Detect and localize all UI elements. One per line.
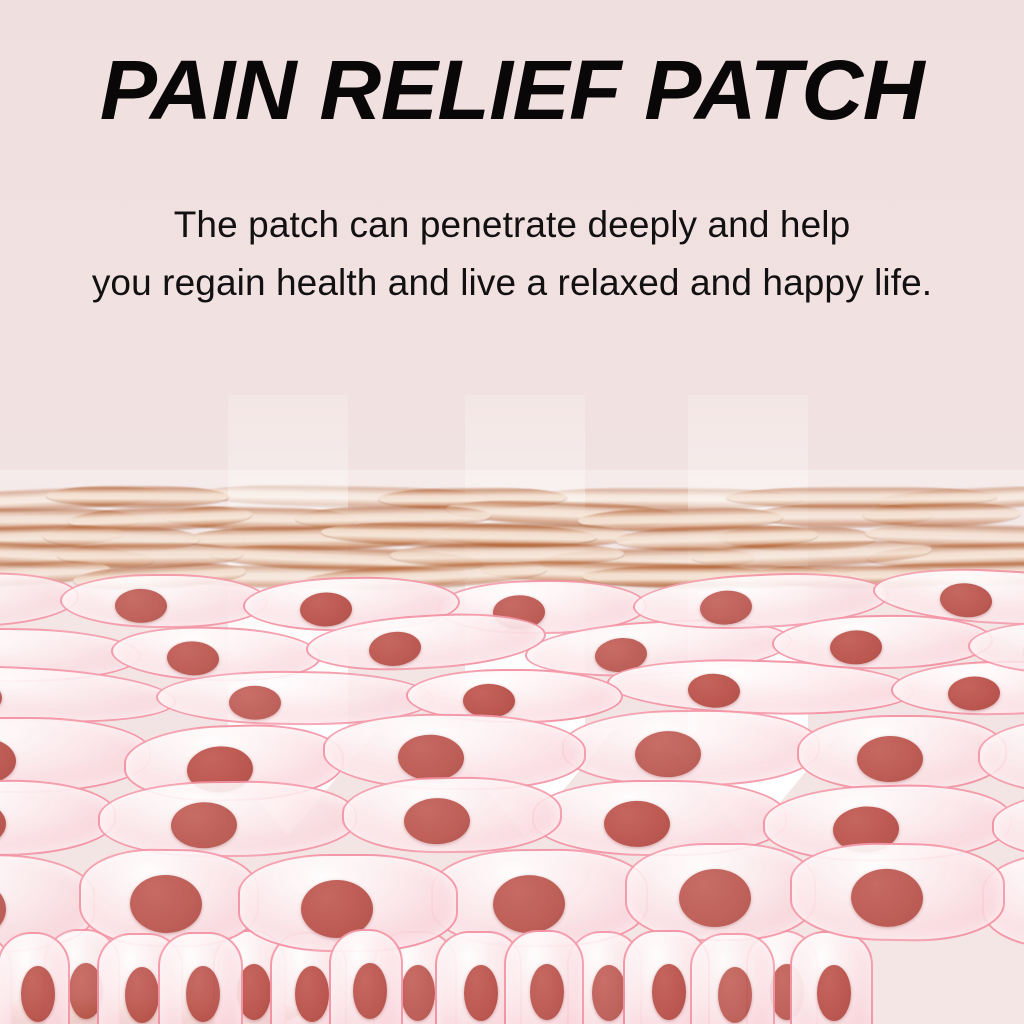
skin-cell [797,715,1007,792]
skin-cell [625,843,816,942]
skin-cell [329,929,403,1024]
skin-cell [158,931,243,1024]
skin-cell [98,780,357,859]
skin-cell [690,933,775,1024]
skin-cell [790,842,1005,943]
page-title: PAIN RELIEF PATCH [0,48,1024,134]
skin-cross-section-illustration [0,470,1024,1024]
subtitle-line-1: The patch can penetrate deeply and help [0,196,1024,254]
skin-cell [562,709,820,787]
skin-cell [0,932,70,1024]
skin-cell [342,776,562,854]
subtitle-line-2: you regain health and live a relaxed and… [0,254,1024,312]
skin-cell [790,930,873,1024]
skin-cell [60,573,268,628]
skin-cell [79,848,259,948]
stratum-basale-row [0,932,1024,1024]
skin-cell [504,930,584,1024]
subtitle-block: The patch can penetrate deeply and help … [0,196,1024,313]
promo-banner: PAIN RELIEF PATCH The patch can penetrat… [0,0,1024,1024]
